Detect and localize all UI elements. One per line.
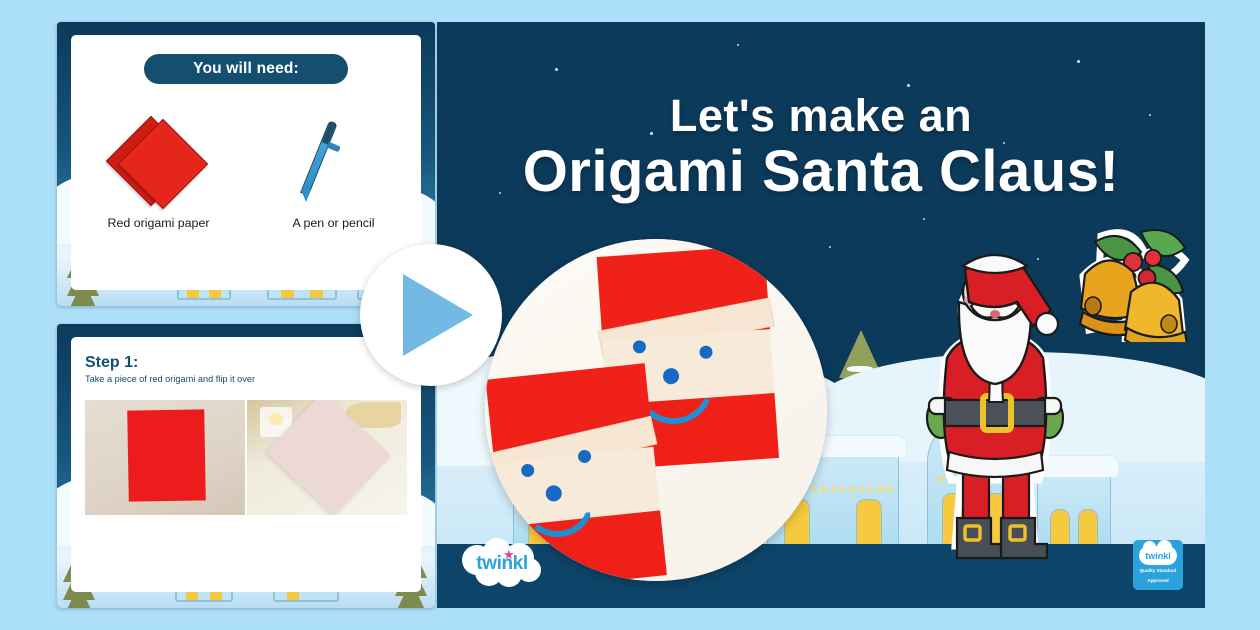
title-line-1: Let's make an bbox=[437, 90, 1205, 142]
twinkl-quality-standard-approved-badge[interactable]: twinkl Quality Standard Approved bbox=[1133, 540, 1183, 590]
step-heading: Step 1: bbox=[85, 354, 421, 372]
material-item-paper: Red origami paper bbox=[71, 108, 246, 230]
badge-line-1: Quality Standard bbox=[1140, 568, 1177, 574]
badge-cloud-icon: twinkl bbox=[1139, 546, 1177, 565]
bells-holly-illustration bbox=[1071, 220, 1199, 342]
material-caption: Red origami paper bbox=[71, 216, 246, 230]
badge-brand: twinkl bbox=[1145, 551, 1171, 561]
main-slide-preview[interactable]: Let's make an Origami Santa Claus! bbox=[437, 22, 1205, 608]
twinkl-logo[interactable]: ★ twinkl bbox=[459, 538, 545, 588]
screenshot-stage: You will need: Red origami paper bbox=[0, 0, 1260, 630]
origami-paper-icon bbox=[71, 108, 246, 212]
step-photo-pair bbox=[85, 400, 407, 515]
step-subheading: Take a piece of red origami and flip it … bbox=[85, 374, 421, 384]
slide-title: Let's make an Origami Santa Claus! bbox=[437, 90, 1205, 205]
pen-icon bbox=[246, 108, 421, 212]
santa-claus-character bbox=[915, 240, 1075, 562]
material-item-pen: A pen or pencil bbox=[246, 108, 421, 230]
material-caption: A pen or pencil bbox=[246, 216, 421, 230]
materials-list: Red origami paper A pen or pencil bbox=[71, 108, 421, 230]
thumbnail-slide-step-1[interactable]: Step 1: Take a piece of red origami and … bbox=[57, 324, 435, 608]
star-icon: ★ bbox=[503, 547, 515, 563]
step-photo-red-paper bbox=[85, 400, 245, 515]
thumbnail-slide-you-will-need[interactable]: You will need: Red origami paper bbox=[57, 22, 435, 306]
play-button[interactable] bbox=[360, 244, 502, 386]
play-triangle-icon bbox=[403, 274, 473, 356]
twinkl-wordmark: twinkl bbox=[459, 538, 545, 588]
thumbnail-card-2: Step 1: Take a piece of red origami and … bbox=[71, 337, 421, 592]
christmas-bells-decoration bbox=[1071, 220, 1199, 342]
title-line-2: Origami Santa Claus! bbox=[437, 138, 1205, 205]
origami-santa-photo bbox=[485, 239, 827, 581]
santa-claus-illustration bbox=[915, 240, 1075, 562]
thumbnail-card-1: You will need: Red origami paper bbox=[71, 35, 421, 290]
badge-line-2: Approved bbox=[1147, 578, 1168, 584]
you-will-need-pill: You will need: bbox=[144, 54, 348, 84]
step-photo-flipped-paper bbox=[247, 400, 407, 515]
